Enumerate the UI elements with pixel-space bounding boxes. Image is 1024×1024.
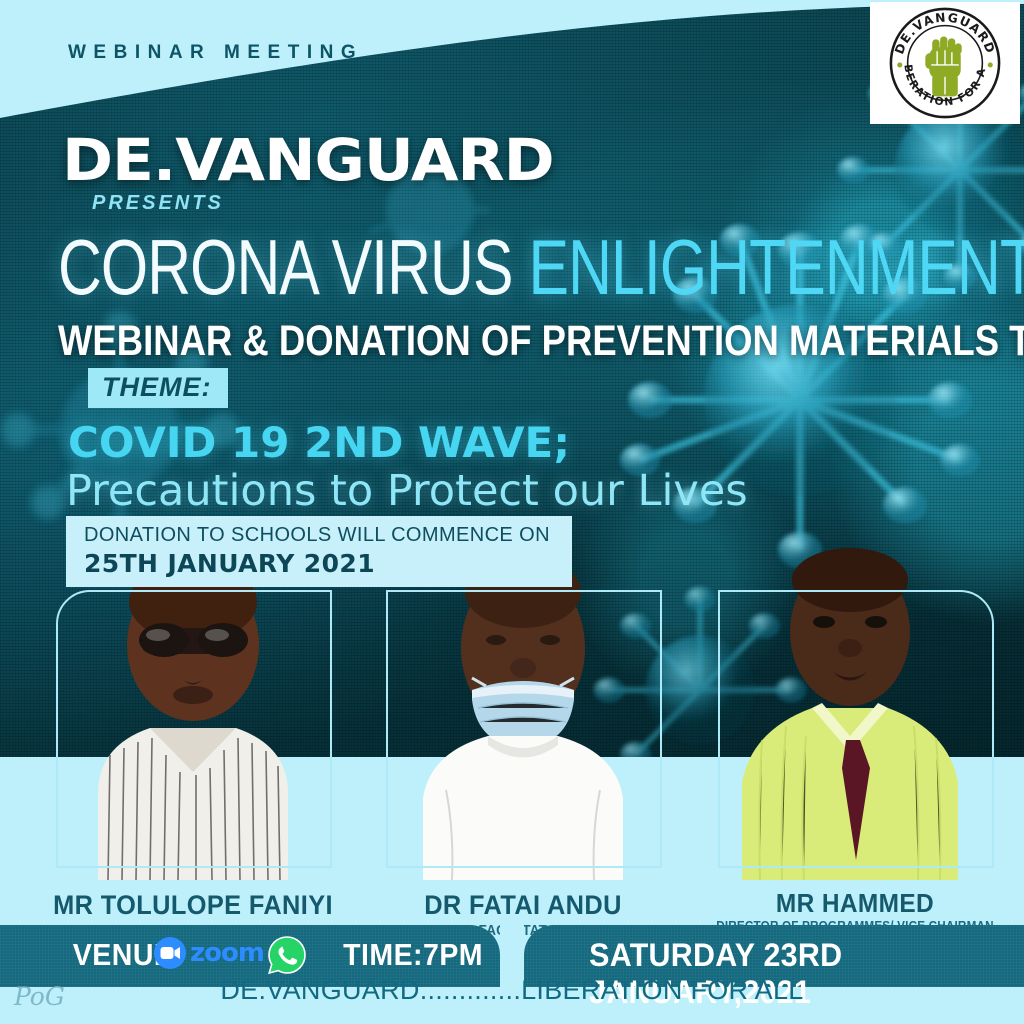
- brand-name: DE.VANGUARD: [62, 126, 554, 194]
- whatsapp-icon: [267, 935, 307, 975]
- theme-chip: THEME:: [88, 368, 228, 408]
- zoom-logo[interactable]: zoom: [153, 936, 264, 970]
- webinar-flyer: WEBINAR MEETING DE.VANGUARD LIBERATION F…: [0, 0, 1024, 1024]
- donation-line-1: DONATION TO SCHOOLS WILL COMMENCE ON: [84, 524, 550, 547]
- tagline-text: DE.VANGUARD.............LIBERATION FOR A…: [0, 975, 1024, 1006]
- donation-notice: DONATION TO SCHOOLS WILL COMMENCE ON 25T…: [66, 516, 572, 587]
- presents-label: PRESENTS: [92, 192, 224, 215]
- speaker-card: MR TOLULOPE FANIYI CHAIRMAN, DE.VANGUARD: [38, 540, 348, 880]
- brand-logo-badge: DE.VANGUARD LIBERATION FOR ALL: [870, 2, 1020, 124]
- main-title: CORONA VIRUS ENLIGHTENMENT: [58, 222, 1024, 312]
- speaker-name: DR FATAI ANDU: [377, 890, 668, 921]
- theme-line-1: COVID 19 2ND WAVE;: [68, 418, 570, 467]
- theme-line-2: Precautions to Protect our Lives: [66, 466, 748, 516]
- main-title-cyan: ENLIGHTENMENT: [529, 223, 1024, 310]
- kicker-text: WEBINAR MEETING: [68, 42, 363, 64]
- time-label: TIME:7PM: [343, 937, 483, 973]
- donation-line-2: 25TH JANUARY 2021: [84, 549, 550, 578]
- de-vanguard-seal-icon: DE.VANGUARD LIBERATION FOR ALL: [886, 4, 1004, 122]
- whatsapp-logo[interactable]: [267, 935, 307, 980]
- zoom-label: zoom: [190, 938, 264, 968]
- subtitle-text: WEBINAR & DONATION OF PREVENTION MATERIA…: [58, 318, 1024, 366]
- designer-watermark: PoG: [14, 982, 65, 1011]
- speaker-card: MR HAMMED AROYEWUN DIRECTOR OF PROGRAMME…: [700, 540, 1010, 880]
- photo-frame: [718, 590, 994, 868]
- speaker-card: DR FATAI ANDU FACILITATOR: [368, 540, 678, 880]
- photo-frame: [386, 590, 662, 868]
- speakers-row: MR TOLULOPE FANIYI CHAIRMAN, DE.VANGUARD: [0, 540, 1024, 930]
- photo-frame: [56, 590, 332, 868]
- main-title-white: CORONA VIRUS: [58, 223, 513, 310]
- zoom-video-icon: [153, 936, 187, 970]
- speaker-name: MR TOLULOPE FANIYI: [47, 890, 338, 921]
